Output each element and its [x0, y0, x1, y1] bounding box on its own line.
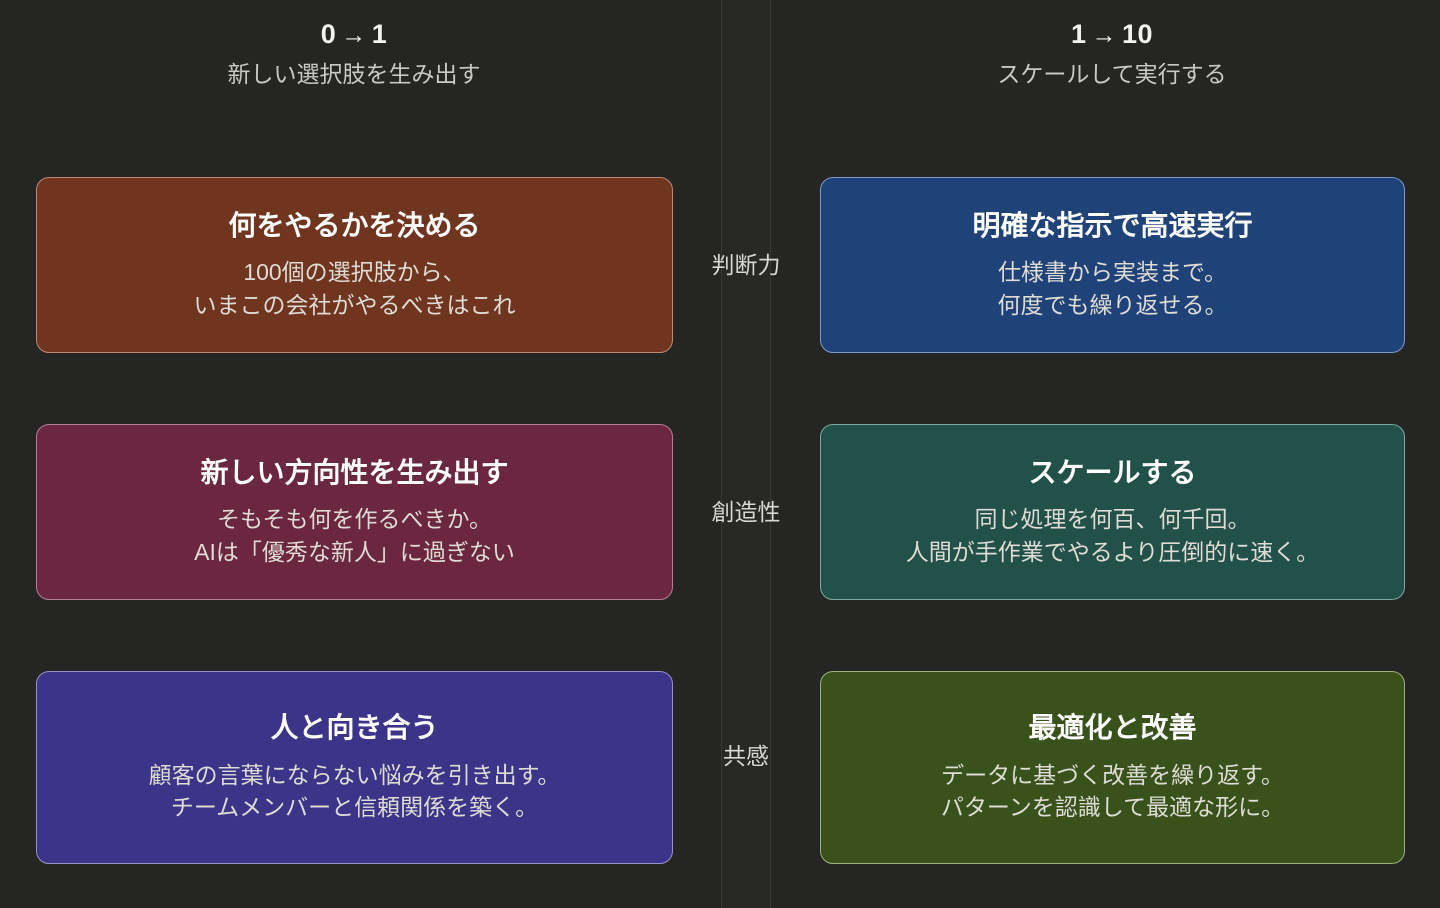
column-header-one-to-ten: 1→10 スケールして実行する: [820, 18, 1404, 90]
card-left-judgment[interactable]: 何をやるかを決める 100個の選択肢から、 いまこの会社がやるべきはこれ: [36, 177, 673, 353]
column-title-to: 1: [372, 19, 388, 49]
card-title: 何をやるかを決める: [228, 209, 480, 243]
card-title: スケールする: [1028, 456, 1196, 490]
column-subtitle-zero-to-one: 新しい選択肢を生み出す: [36, 60, 672, 90]
card-description: 同じ処理を何百、何千回。 人間が手作業でやるより圧倒的に速く。: [906, 503, 1320, 568]
card-description: データに基づく改善を繰り返す。 パターンを認識して最適な形に。: [941, 759, 1284, 824]
card-left-empathy[interactable]: 人と向き合う 顧客の言葉にならない悩みを引き出す。 チームメンバーと信頼関係を築…: [36, 671, 673, 864]
column-subtitle-one-to-ten: スケールして実行する: [820, 60, 1404, 90]
card-title: 新しい方向性を生み出す: [200, 456, 508, 490]
column-title-from: 0: [321, 19, 337, 49]
card-description: 100個の選択肢から、 いまこの会社がやるべきはこれ: [194, 256, 516, 321]
card-right-creativity[interactable]: スケールする 同じ処理を何百、何千回。 人間が手作業でやるより圧倒的に速く。: [820, 424, 1405, 600]
card-right-empathy[interactable]: 最適化と改善 データに基づく改善を繰り返す。 パターンを認識して最適な形に。: [820, 671, 1405, 864]
card-left-creativity[interactable]: 新しい方向性を生み出す そもそも何を作るべきか。 AIは「優秀な新人」に過ぎない: [36, 424, 673, 600]
card-right-judgment[interactable]: 明確な指示で高速実行 仕様書から実装まで。 何度でも繰り返せる。: [820, 177, 1405, 353]
column-title-to: 10: [1122, 19, 1153, 49]
card-description: 仕様書から実装まで。 何度でも繰り返せる。: [998, 256, 1228, 321]
card-description: 顧客の言葉にならない悩みを引き出す。 チームメンバーと信頼関係を築く。: [149, 759, 561, 824]
column-title-from: 1: [1071, 19, 1087, 49]
arrow-right-icon: →: [1086, 20, 1122, 51]
card-title: 最適化と改善: [1028, 711, 1196, 745]
axis-label-empathy: 共感: [686, 745, 806, 768]
comparison-board: 0→1 新しい選択肢を生み出す 1→10 スケールして実行する 何をやるかを決め…: [0, 0, 1440, 908]
column-title-zero-to-one: 0→1: [36, 18, 672, 52]
column-header-zero-to-one: 0→1 新しい選択肢を生み出す: [36, 18, 672, 90]
axis-label-creativity: 創造性: [686, 501, 806, 524]
arrow-right-icon: →: [336, 20, 372, 51]
card-title: 人と向き合う: [270, 711, 438, 745]
card-description: そもそも何を作るべきか。 AIは「優秀な新人」に過ぎない: [194, 503, 515, 568]
card-title: 明確な指示で高速実行: [972, 209, 1252, 243]
column-title-one-to-ten: 1→10: [820, 18, 1404, 52]
axis-label-judgment: 判断力: [686, 254, 806, 277]
